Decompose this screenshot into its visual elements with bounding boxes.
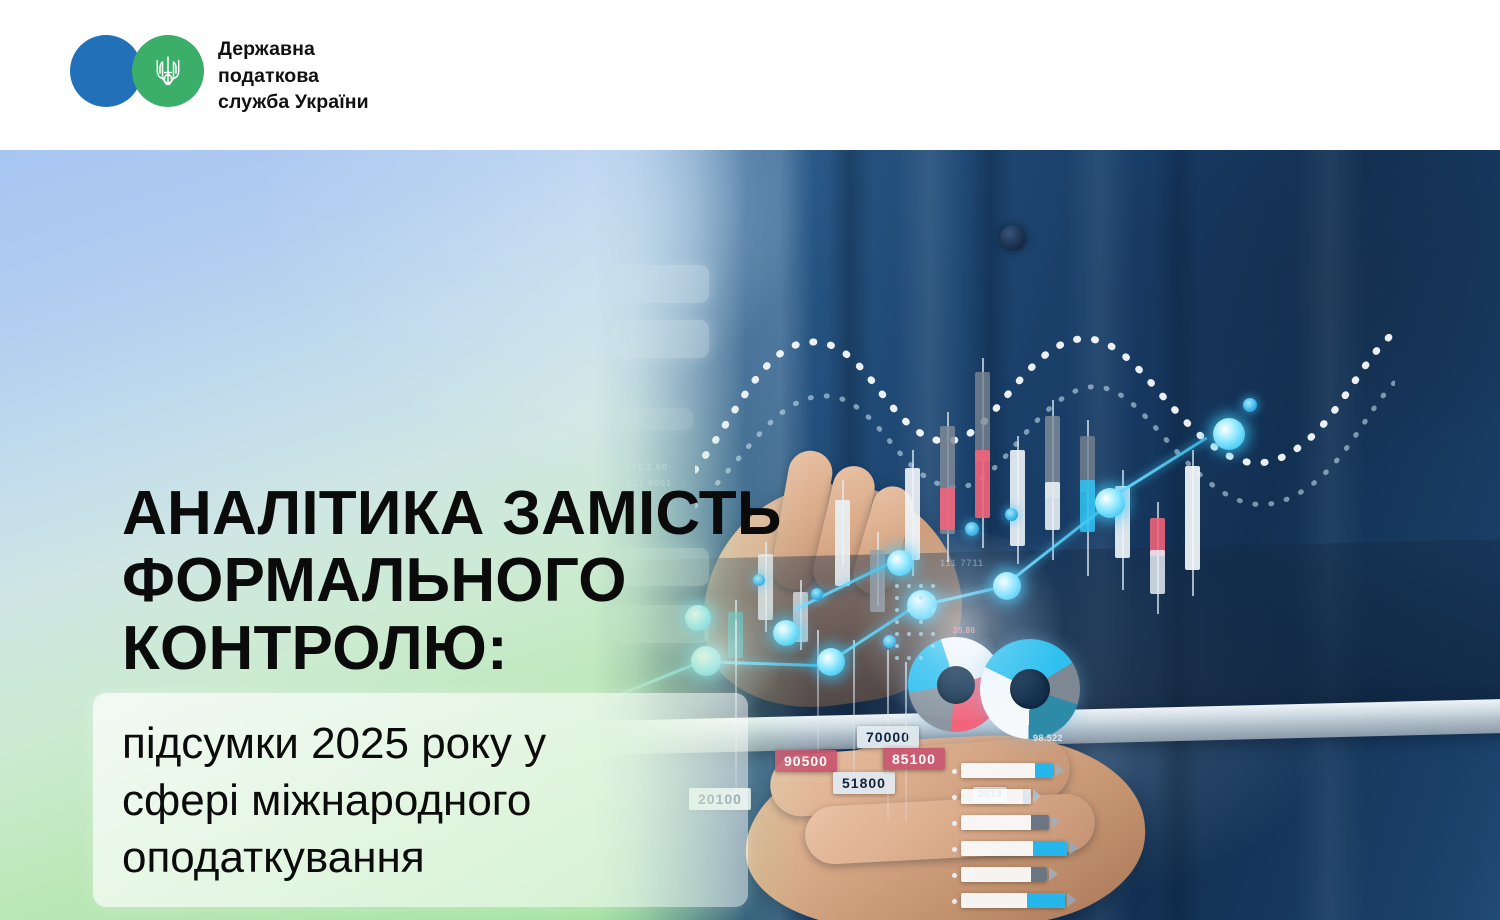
subtitle-panel: підсумки 2025 року у сфері міжнародного … (93, 693, 748, 907)
page-subtitle: підсумки 2025 року у сфері міжнародного … (122, 715, 722, 887)
organization-name: Державна податкова служба України (218, 35, 369, 116)
green-circle-icon (132, 35, 204, 107)
logo-marks (70, 35, 205, 115)
page-title: АНАЛІТИКА ЗАМІСТЬ ФОРМАЛЬНОГО КОНТРОЛЮ: (122, 480, 862, 682)
ukrainian-trident-icon (153, 52, 183, 90)
shirt-button-icon (1000, 225, 1026, 251)
site-header: Державна податкова служба України (0, 0, 1500, 150)
organization-logo[interactable]: Державна податкова служба України (70, 35, 369, 116)
poster-page: Державна податкова служба України (0, 0, 1500, 920)
hero-banner: 20100 90500 51800 70000 85100 2019 35.86 (0, 150, 1500, 920)
